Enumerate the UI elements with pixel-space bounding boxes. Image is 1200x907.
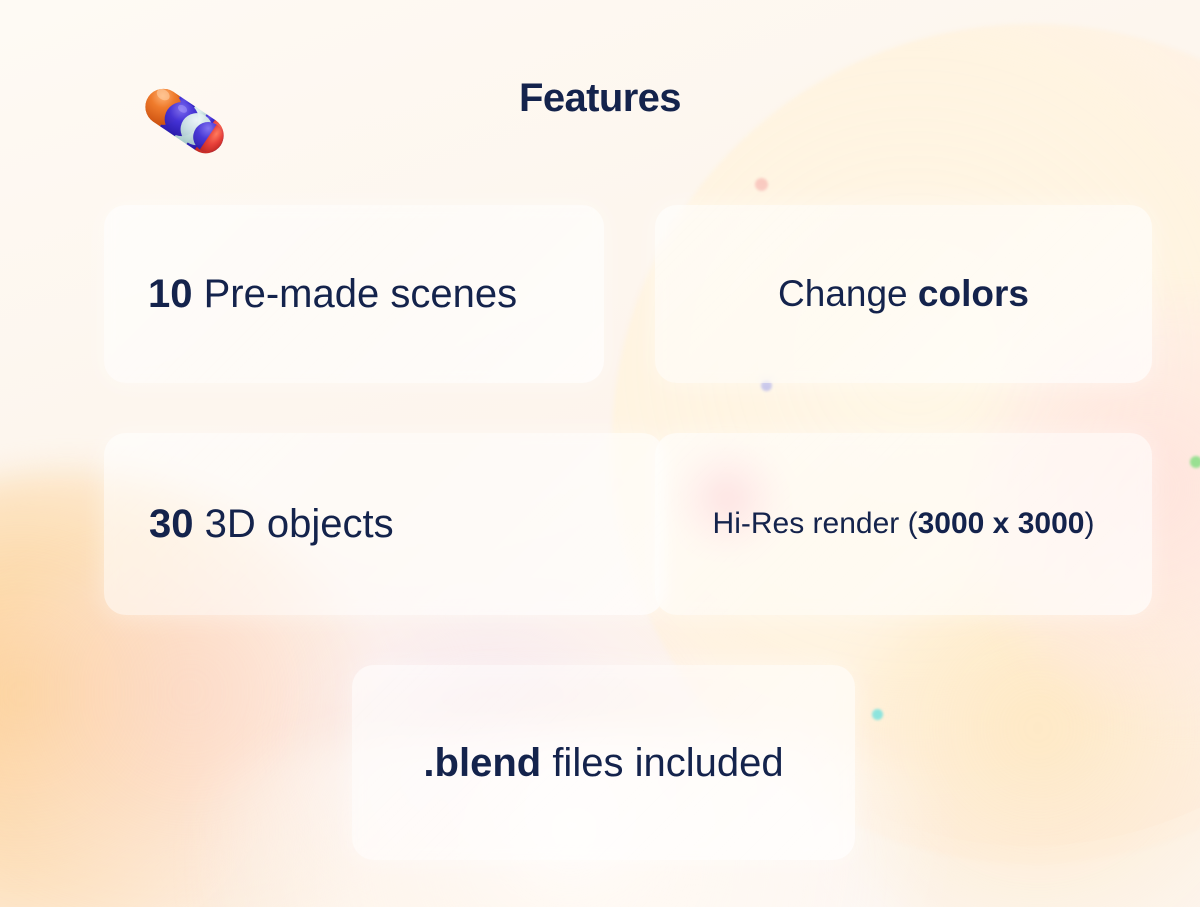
feature-card-3d-objects[interactable]: 30 3D objects xyxy=(104,433,664,615)
dot-cyan xyxy=(872,709,883,720)
features-slide: Features 10 Pre-made scenes Change color… xyxy=(0,0,1200,907)
feature-card-text: 30 3D objects xyxy=(104,501,664,547)
feature-bold-prefix: 30 xyxy=(149,502,194,546)
feature-card-change-colors[interactable]: Change colors xyxy=(655,205,1152,383)
feature-bold-suffix: 3000 x 3000 xyxy=(918,507,1085,540)
dot-green xyxy=(1190,456,1200,468)
page-title: Features xyxy=(0,76,1200,121)
feature-card-text: .blend files included xyxy=(352,740,855,786)
feature-normal-suffix: ) xyxy=(1084,507,1094,540)
feature-bold-prefix: .blend xyxy=(423,741,541,785)
feature-bold-suffix: colors xyxy=(918,273,1029,314)
feature-bold-prefix: 10 xyxy=(148,272,193,316)
feature-card-blend-files[interactable]: .blend files included xyxy=(352,665,855,860)
feature-card-hi-res-render[interactable]: Hi-Res render (3000 x 3000) xyxy=(655,433,1152,615)
feature-normal-text: Change xyxy=(778,273,918,314)
feature-card-text: 10 Pre-made scenes xyxy=(104,271,604,317)
dot-pink xyxy=(755,178,768,191)
feature-card-text: Hi-Res render (3000 x 3000) xyxy=(655,507,1152,542)
feature-normal-text: Hi-Res render ( xyxy=(713,507,918,540)
feature-normal-text: files included xyxy=(541,741,783,785)
feature-normal-text: Pre-made scenes xyxy=(193,272,518,316)
feature-card-pre-made-scenes[interactable]: 10 Pre-made scenes xyxy=(104,205,604,383)
feature-card-text: Change colors xyxy=(655,273,1152,316)
feature-normal-text: 3D objects xyxy=(194,502,394,546)
